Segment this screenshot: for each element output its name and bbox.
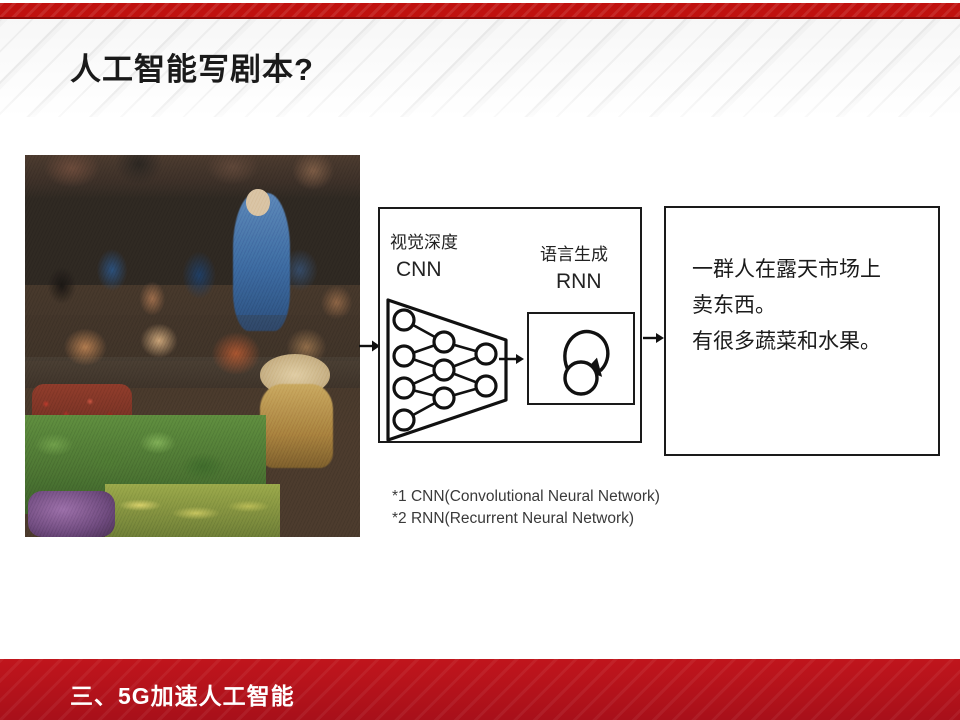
rnn-label: RNN xyxy=(556,270,602,294)
market-photo xyxy=(25,155,360,537)
caption-output-text: 一群人在露天市场上 卖东西。 有很多蔬菜和水果。 xyxy=(692,252,932,360)
caption-line-2: 卖东西。 xyxy=(692,288,932,324)
cnn-label: CNN xyxy=(396,258,442,282)
caption-line-1: 一群人在露天市场上 xyxy=(692,252,932,288)
rnn-chinese-label: 语言生成 xyxy=(540,240,608,265)
arrow-cnn-to-rnn-icon xyxy=(498,350,526,368)
page-title: 人工智能写剧本? xyxy=(70,44,314,89)
top-red-strip xyxy=(0,3,960,17)
photo-grain-overlay xyxy=(25,155,360,537)
caption-line-3: 有很多蔬菜和水果。 xyxy=(692,324,932,360)
cnn-network-icon xyxy=(382,296,514,444)
arrow-diagram-to-caption-icon xyxy=(642,329,666,347)
footnote-rnn: *2 RNN(Recurrent Neural Network) xyxy=(392,508,660,530)
footnote-list: *1 CNN(Convolutional Neural Network) *2 … xyxy=(392,486,660,530)
footnote-cnn: *1 CNN(Convolutional Neural Network) xyxy=(392,486,660,508)
top-accent-bar xyxy=(0,0,960,20)
rnn-recurrent-loop-icon xyxy=(529,314,633,403)
footer-section-title: 三、5G加速人工智能 xyxy=(70,677,295,711)
cnn-chinese-label: 视觉深度 xyxy=(390,228,458,253)
slide-canvas: 人工智能写剧本? 视觉深度 CNN 语言生成 RNN xyxy=(0,0,960,720)
